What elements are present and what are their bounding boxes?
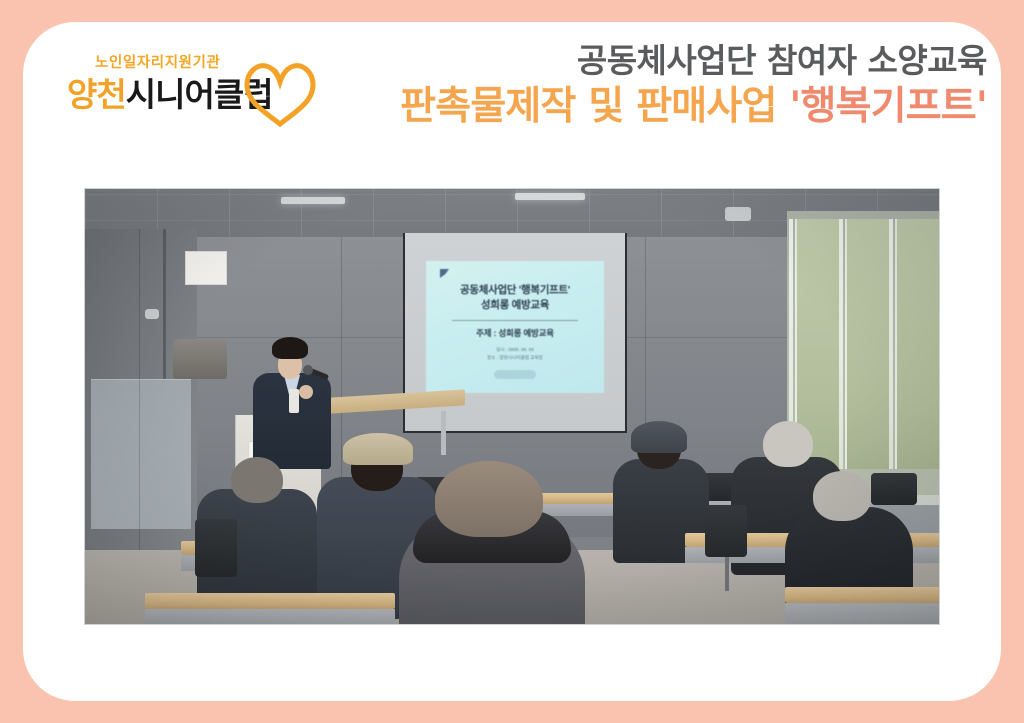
table-row: [145, 609, 395, 625]
equipment-bag: [173, 339, 227, 379]
lectern-leg: [441, 411, 446, 455]
slide-subject: 주제 : 성희롱 예방교육: [434, 327, 596, 339]
left-wall-panel: [91, 379, 191, 529]
logo-wordmark-accent: 양천: [67, 75, 126, 114]
slide-heading-line1: 공동체사업단 '행복기프트': [434, 283, 596, 298]
vertical-blind-slat: [895, 219, 939, 469]
vertical-blind-slat: [845, 219, 889, 469]
poster-title-block: 공동체사업단 참여자 소양교육 판촉물제작 및 판매사업 '행복기프트': [267, 40, 987, 130]
classroom-education-photo: 공동체사업단 '행복기프트' 성희롱 예방교육 주제 : 성희롱 예방교육 일시…: [84, 188, 940, 625]
microphone-icon: [303, 365, 313, 375]
table-row: [785, 603, 940, 625]
hanging-cable: [163, 229, 166, 379]
presenter-hair: [272, 337, 308, 359]
chair: [195, 519, 237, 577]
beanie-hat: [631, 421, 687, 453]
ceiling-speaker: [725, 207, 751, 221]
slide-meta-line2: 장소 : 양천시니어클럽 교육장: [434, 354, 596, 362]
chair: [705, 505, 747, 557]
presenter-badge: [289, 389, 299, 413]
presenter-hand: [299, 385, 313, 399]
poster-card: 노인일자리지원기관 양천시니어클럽 공동체사업단 참여자 소양교육 판촉물제작 …: [0, 0, 1024, 723]
tweed-cap: [343, 433, 413, 465]
table-row: [145, 593, 395, 609]
chair-leg: [725, 557, 729, 591]
slide-divider: [452, 320, 578, 321]
blind-gap: [889, 219, 893, 469]
page-title-line1: 공동체사업단 참여자 소양교육: [267, 40, 987, 82]
presentation-slide: 공동체사업단 '행복기프트' 성희롱 예방교육 주제 : 성희롱 예방교육 일시…: [426, 261, 604, 393]
table-row: [785, 587, 940, 603]
ceiling-light: [515, 193, 585, 200]
audience-head: [813, 471, 871, 521]
chair: [871, 473, 917, 505]
white-content-panel: 노인일자리지원기관 양천시니어클럽 공동체사업단 참여자 소양교육 판촉물제작 …: [23, 22, 1001, 701]
slide-meta-line1: 일시 : 0000. 00. 00: [434, 346, 596, 354]
page-title-line2-segment2: '행복기프트': [789, 84, 987, 129]
blind-gap: [839, 219, 843, 469]
slide-flag-icon: [440, 269, 449, 278]
page-title-line2: 판촉물제작 및 판매사업 '행복기프트': [267, 84, 987, 130]
audience-head: [763, 421, 813, 467]
wall-seam: [139, 229, 140, 559]
slide-logo-mark: [494, 370, 536, 379]
audience-head: [231, 457, 283, 503]
page-title-line2-segment1: 판촉물제작 및 판매사업: [400, 84, 789, 129]
slide-heading-line2: 성희롱 예방교육: [434, 298, 596, 313]
poster-header: 노인일자리지원기관 양천시니어클럽 공동체사업단 참여자 소양교육 판촉물제작 …: [23, 22, 1001, 172]
wall-bracket: [145, 309, 159, 319]
audience-head: [435, 461, 543, 537]
ceiling-light: [281, 197, 345, 204]
wall-notice-paper: [185, 251, 227, 285]
